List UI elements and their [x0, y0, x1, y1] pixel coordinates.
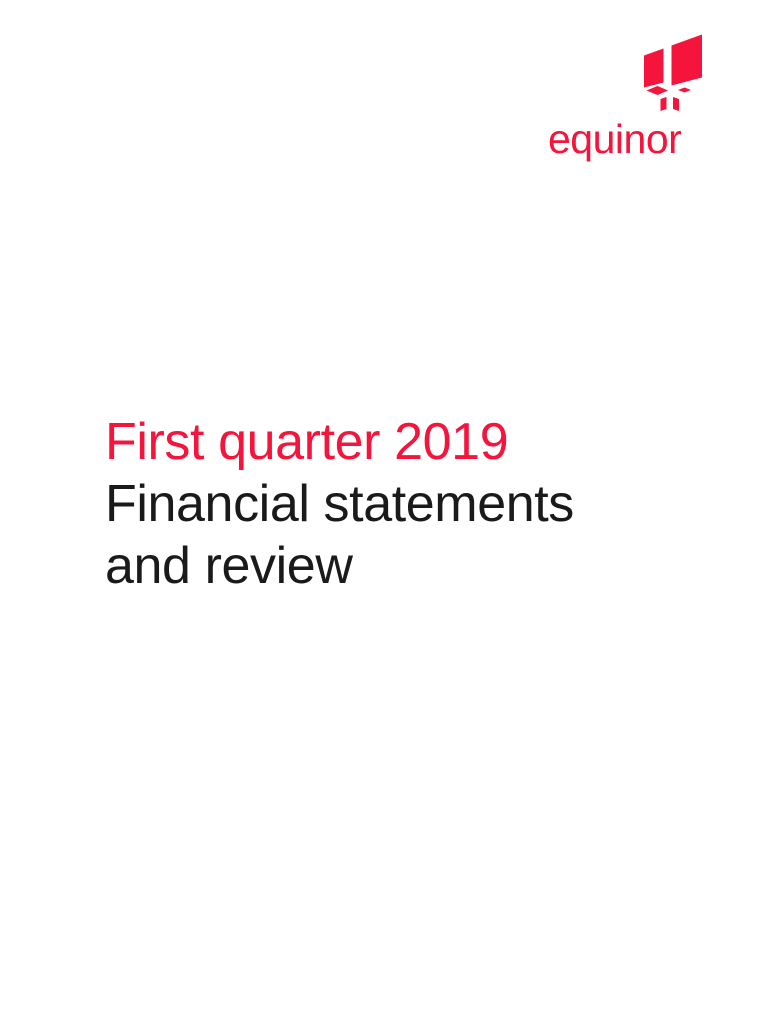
cover-eyebrow: First quarter 2019 — [105, 411, 705, 473]
equinor-star-mark-icon — [630, 33, 708, 115]
equinor-wordmark-text: equinor — [548, 116, 681, 162]
equinor-wordmark-icon: equinor — [546, 115, 706, 165]
equinor-logo: equinor — [540, 33, 710, 163]
cover-title-line-1: Financial statements — [105, 473, 705, 535]
cover-page: equinor First quarter 2019 Financial sta… — [0, 0, 770, 1024]
cover-title-line-2: and review — [105, 535, 705, 597]
cover-title-block: First quarter 2019 Financial statements … — [105, 411, 705, 597]
